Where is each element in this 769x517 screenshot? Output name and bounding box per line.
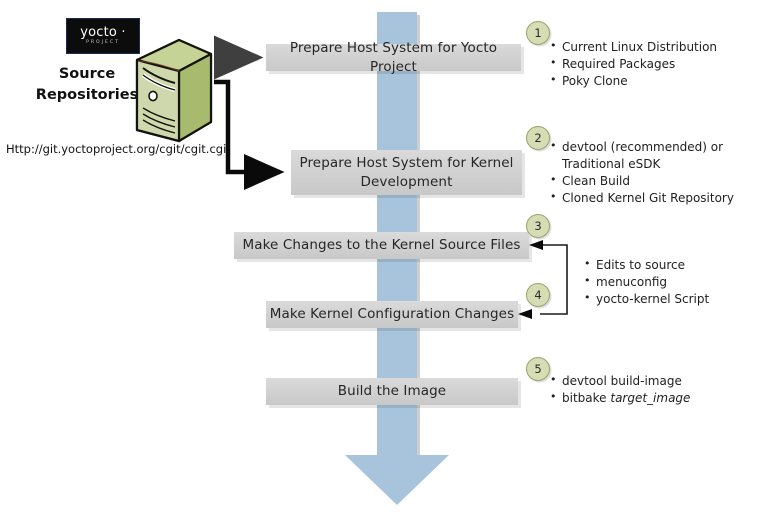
yocto-project-logo: yocto · PROJECT (66, 18, 140, 54)
bitbake-target-argument: target_image (610, 391, 690, 405)
step-5-notes: devtool build-image bitbake target_image (549, 373, 690, 407)
list-item: yocto-kernel Script (583, 291, 709, 308)
process-box-prepare-host-kernel[interactable]: Prepare Host System for Kernel Developme… (291, 150, 522, 195)
list-item: devtool (recommended) or Traditional eSD… (549, 139, 734, 173)
diagram-canvas: yocto · PROJECT Source Repositories Http… (0, 0, 769, 517)
step-number-2: 2 (526, 126, 550, 150)
source-repositories-label: Source Repositories (32, 64, 142, 106)
list-item: Cloned Kernel Git Repository (549, 190, 734, 207)
list-item: Edits to source (583, 257, 709, 274)
steps-3-4-shared-notes: Edits to source menuconfig yocto-kernel … (583, 257, 709, 308)
bitbake-command: bitbake (562, 391, 610, 405)
list-item: Poky Clone (549, 73, 717, 90)
process-box-make-kernel-config-changes[interactable]: Make Kernel Configuration Changes (266, 301, 518, 328)
step-number-4: 4 (526, 283, 550, 307)
list-item: menuconfig (583, 274, 709, 291)
process-box-prepare-host-yocto[interactable]: Prepare Host System for Yocto Project (266, 44, 521, 71)
list-item: Required Packages (549, 56, 717, 73)
step-1-notes: Current Linux Distribution Required Pack… (549, 39, 717, 90)
flow-arrow-head (345, 455, 449, 505)
step-number-1: 1 (526, 21, 550, 45)
list-item: bitbake target_image (549, 390, 690, 407)
logo-subtext: PROJECT (86, 41, 120, 46)
process-box-make-kernel-source-changes[interactable]: Make Changes to the Kernel Source Files (234, 232, 529, 259)
server-tower-icon (133, 38, 215, 143)
list-item: devtool build-image (549, 373, 690, 390)
step-2-notes: devtool (recommended) or Traditional eSD… (549, 139, 734, 207)
process-box-build-the-image[interactable]: Build the Image (266, 378, 518, 405)
logo-wordmark: yocto · (80, 26, 126, 39)
source-repositories-url: Http://git.yoctoproject.org/cgit/cgit.cg… (6, 142, 234, 156)
step-number-5: 5 (526, 357, 550, 381)
step-number-3: 3 (526, 214, 550, 238)
list-item: Clean Build (549, 173, 734, 190)
list-item: Current Linux Distribution (549, 39, 717, 56)
